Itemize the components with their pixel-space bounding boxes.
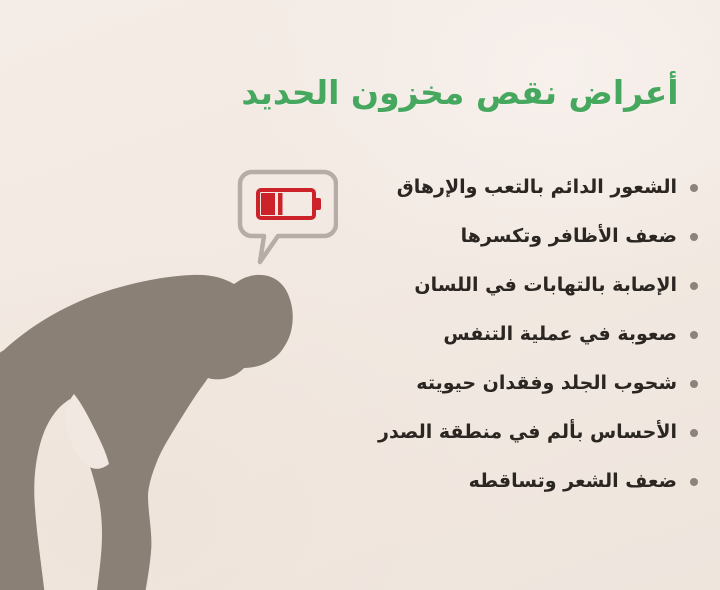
- symptom-text: صعوبة في عملية التنفس: [443, 323, 677, 346]
- list-item: ضعف الشعر وتساقطه: [198, 457, 698, 506]
- symptom-text: ضعف الشعر وتساقطه: [469, 470, 677, 493]
- symptom-text: شحوب الجلد وفقدان حيويته: [416, 372, 677, 395]
- bullet-icon: [690, 233, 698, 241]
- symptom-text: الأحساس بألم في منطقة الصدر: [378, 421, 677, 444]
- bullet-icon: [690, 282, 698, 290]
- symptom-text: الإصابة بالتهابات في اللسان: [414, 274, 677, 297]
- bullet-icon: [690, 184, 698, 192]
- list-item: شحوب الجلد وفقدان حيويته: [198, 359, 698, 408]
- symptom-list: الشعور الدائم بالتعب والإرهاق ضعف الأظاف…: [198, 163, 698, 506]
- list-item: صعوبة في عملية التنفس: [198, 310, 698, 359]
- bullet-icon: [690, 478, 698, 486]
- list-item: ضعف الأظافر وتكسرها: [198, 212, 698, 261]
- iron-deficiency-infographic: أعراض نقص مخزون الحديد الشعور الدائم بال…: [0, 0, 720, 590]
- page-title: أعراض نقص مخزون الحديد: [230, 72, 690, 113]
- symptom-text: الشعور الدائم بالتعب والإرهاق: [397, 176, 677, 199]
- list-item: الإصابة بالتهابات في اللسان: [198, 261, 698, 310]
- list-item: الأحساس بألم في منطقة الصدر: [198, 408, 698, 457]
- bullet-icon: [690, 380, 698, 388]
- symptom-text: ضعف الأظافر وتكسرها: [461, 225, 677, 248]
- bullet-icon: [690, 429, 698, 437]
- bullet-icon: [690, 331, 698, 339]
- list-item: الشعور الدائم بالتعب والإرهاق: [198, 163, 698, 212]
